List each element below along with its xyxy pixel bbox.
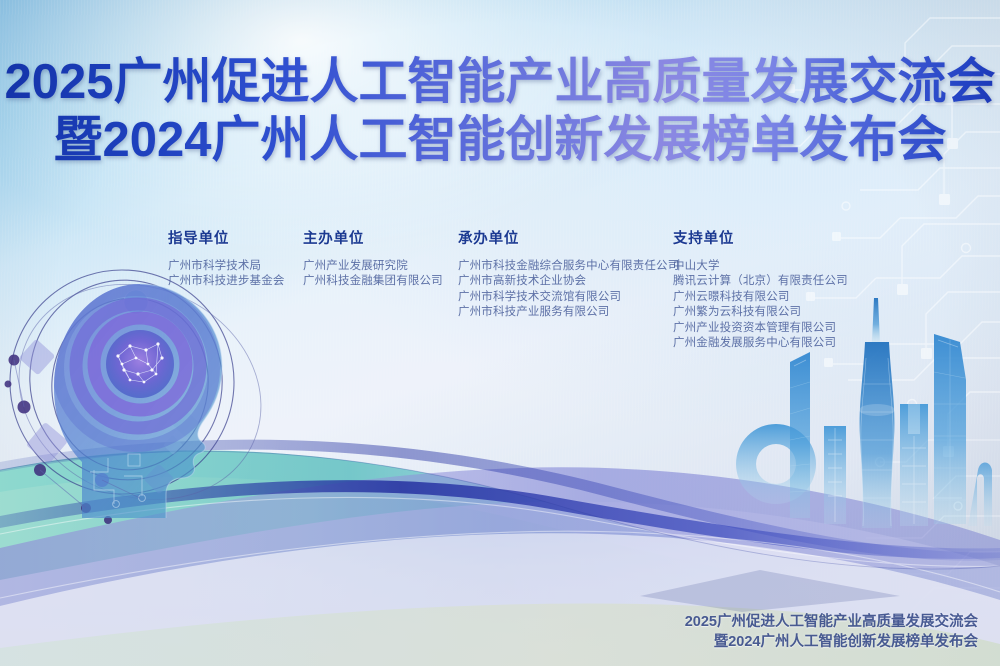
org-item: 中山大学 bbox=[673, 259, 888, 275]
org-item: 广州市科技金融综合服务中心有限责任公司 bbox=[458, 259, 673, 275]
org-item: 广州市科学技术局 bbox=[168, 259, 303, 275]
org-column-support: 支持单位 中山大学 腾讯云计算（北京）有限责任公司 广州云暻科技有限公司 广州繁… bbox=[673, 232, 888, 352]
org-item: 广州市高新技术企业协会 bbox=[458, 274, 673, 290]
title-line-1: 2025广州促进人工智能产业高质量发展交流会 bbox=[0, 55, 1000, 109]
org-column-guidance: 指导单位 广州市科学技术局 广州市科技进步基金会 bbox=[168, 232, 303, 290]
watermark-line-1: 2025广州促进人工智能产业高质量发展交流会 bbox=[685, 612, 978, 632]
org-item: 广州市科技产业服务有限公司 bbox=[458, 305, 673, 321]
organization-credits: 指导单位 广州市科学技术局 广州市科技进步基金会 主办单位 广州产业发展研究院 … bbox=[168, 232, 888, 352]
org-heading-host: 承办单位 bbox=[458, 232, 673, 247]
org-item: 广州产业发展研究院 bbox=[303, 259, 458, 275]
org-item: 广州市科技进步基金会 bbox=[168, 274, 303, 290]
org-item: 广州金融发展服务中心有限公司 bbox=[673, 336, 888, 352]
org-item: 广州繁为云科技有限公司 bbox=[673, 305, 888, 321]
org-column-host: 承办单位 广州市科技金融综合服务中心有限责任公司 广州市高新技术企业协会 广州市… bbox=[458, 232, 673, 321]
org-column-organizer: 主办单位 广州产业发展研究院 广州科技金融集团有限公司 bbox=[303, 232, 458, 290]
page-title: 2025广州促进人工智能产业高质量发展交流会 暨2024广州人工智能创新发展榜单… bbox=[0, 55, 1000, 167]
org-item: 广州产业投资资本管理有限公司 bbox=[673, 321, 888, 337]
bottom-watermark: 2025广州促进人工智能产业高质量发展交流会 暨2024广州人工智能创新发展榜单… bbox=[685, 612, 978, 652]
watermark-line-2: 暨2024广州人工智能创新发展榜单发布会 bbox=[685, 632, 978, 652]
org-item: 广州市科学技术交流馆有限公司 bbox=[458, 290, 673, 306]
org-item: 腾讯云计算（北京）有限责任公司 bbox=[673, 274, 888, 290]
org-heading-organizer: 主办单位 bbox=[303, 232, 458, 247]
org-item: 广州云暻科技有限公司 bbox=[673, 290, 888, 306]
org-heading-support: 支持单位 bbox=[673, 232, 888, 247]
conference-backdrop-poster: 2025广州促进人工智能产业高质量发展交流会 暨2024广州人工智能创新发展榜单… bbox=[0, 0, 1000, 666]
org-heading-guidance: 指导单位 bbox=[168, 232, 303, 247]
org-item: 广州科技金融集团有限公司 bbox=[303, 274, 458, 290]
title-line-2: 暨2024广州人工智能创新发展榜单发布会 bbox=[0, 113, 1000, 167]
